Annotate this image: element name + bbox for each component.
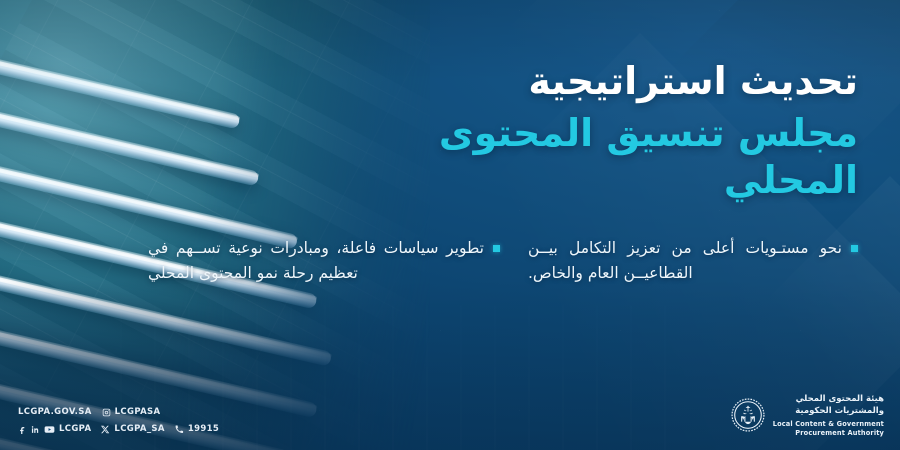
footer-contact-block: LCGPA.GOV.SA LCGPASA: [18, 402, 219, 436]
bullet-text: تطوير سياسات فاعلة، ومبادرات نوعية تســه…: [148, 236, 484, 286]
authority-logo-text: هيئة المحتوى المحلي والمشتريات الحكومية …: [773, 393, 884, 438]
announcement-banner: تحديث استراتيجية مجلس تنسيق المحتوى المح…: [0, 0, 900, 450]
instagram-icon: [102, 408, 111, 417]
authority-name-en-line1: Local Content & Government: [773, 420, 884, 429]
footer-row-social: LCGPA LCGPA_SA 1: [18, 422, 219, 436]
bullet-marker-icon: [851, 245, 858, 252]
phone-link[interactable]: 19915: [175, 424, 219, 434]
facebook-icon[interactable]: [18, 425, 27, 434]
youtube-icon[interactable]: [44, 425, 55, 434]
bullet-list: نحو مستـويات أعلى من تعزيز التكامل بيــن…: [0, 236, 900, 356]
authority-name-en-line2: Procurement Authority: [773, 429, 884, 438]
instagram-handle: LCGPASA: [115, 407, 161, 417]
phone-number: 19915: [188, 424, 219, 434]
headline-line-2: مجلس تنسيق المحتوى المحلي: [298, 110, 858, 203]
instagram-link[interactable]: LCGPASA: [102, 407, 161, 417]
phone-icon: [175, 425, 184, 434]
saudi-emblem-icon: [731, 398, 765, 432]
headline-line-1: تحديث استراتيجية: [298, 58, 858, 104]
social-handles-group[interactable]: LCGPA: [18, 424, 91, 434]
banner-content: تحديث استراتيجية مجلس تنسيق المحتوى المح…: [0, 0, 900, 450]
social-handle: LCGPA: [59, 424, 91, 434]
bullet-text: نحو مستـويات أعلى من تعزيز التكامل بيــن…: [528, 236, 842, 286]
bullet-item-integration: نحو مستـويات أعلى من تعزيز التكامل بيــن…: [528, 236, 858, 286]
bullet-item-policies: تطوير سياسات فاعلة، ومبادرات نوعية تســه…: [148, 236, 500, 286]
x-handle: LCGPA_SA: [114, 424, 164, 434]
linkedin-icon[interactable]: [31, 425, 40, 434]
authority-logo: هيئة المحتوى المحلي والمشتريات الحكومية …: [731, 393, 884, 438]
x-link[interactable]: LCGPA_SA: [101, 424, 164, 434]
footer-row-website: LCGPA.GOV.SA LCGPASA: [18, 405, 219, 419]
headline: تحديث استراتيجية مجلس تنسيق المحتوى المح…: [298, 58, 858, 203]
bullet-marker-icon: [493, 245, 500, 252]
x-twitter-icon: [101, 425, 110, 434]
website-link[interactable]: LCGPA.GOV.SA: [18, 407, 92, 417]
website-label: LCGPA.GOV.SA: [18, 407, 92, 417]
authority-name-ar-line1: هيئة المحتوى المحلي: [773, 393, 884, 405]
authority-name-ar-line2: والمشتريات الحكومية: [773, 405, 884, 417]
